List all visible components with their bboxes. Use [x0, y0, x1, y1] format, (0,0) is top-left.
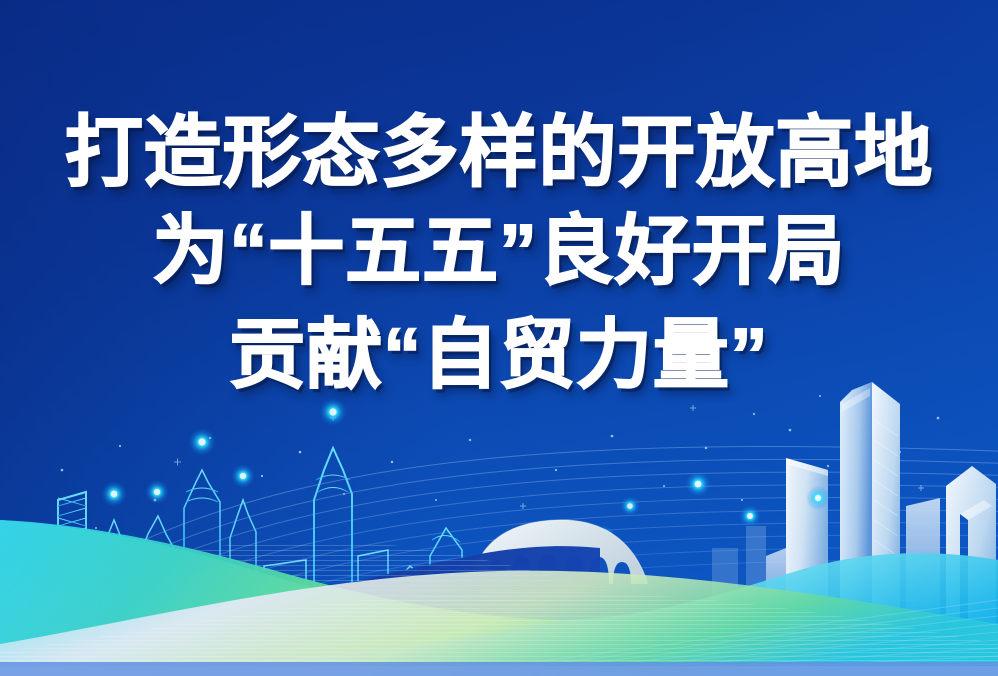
- background-artwork: [0, 0, 998, 676]
- bottom-strip-inner: [0, 666, 998, 676]
- poster-banner: 打造形态多样的开放高地 为“十五五”良好开局 贡献“自贸力量”: [0, 0, 998, 676]
